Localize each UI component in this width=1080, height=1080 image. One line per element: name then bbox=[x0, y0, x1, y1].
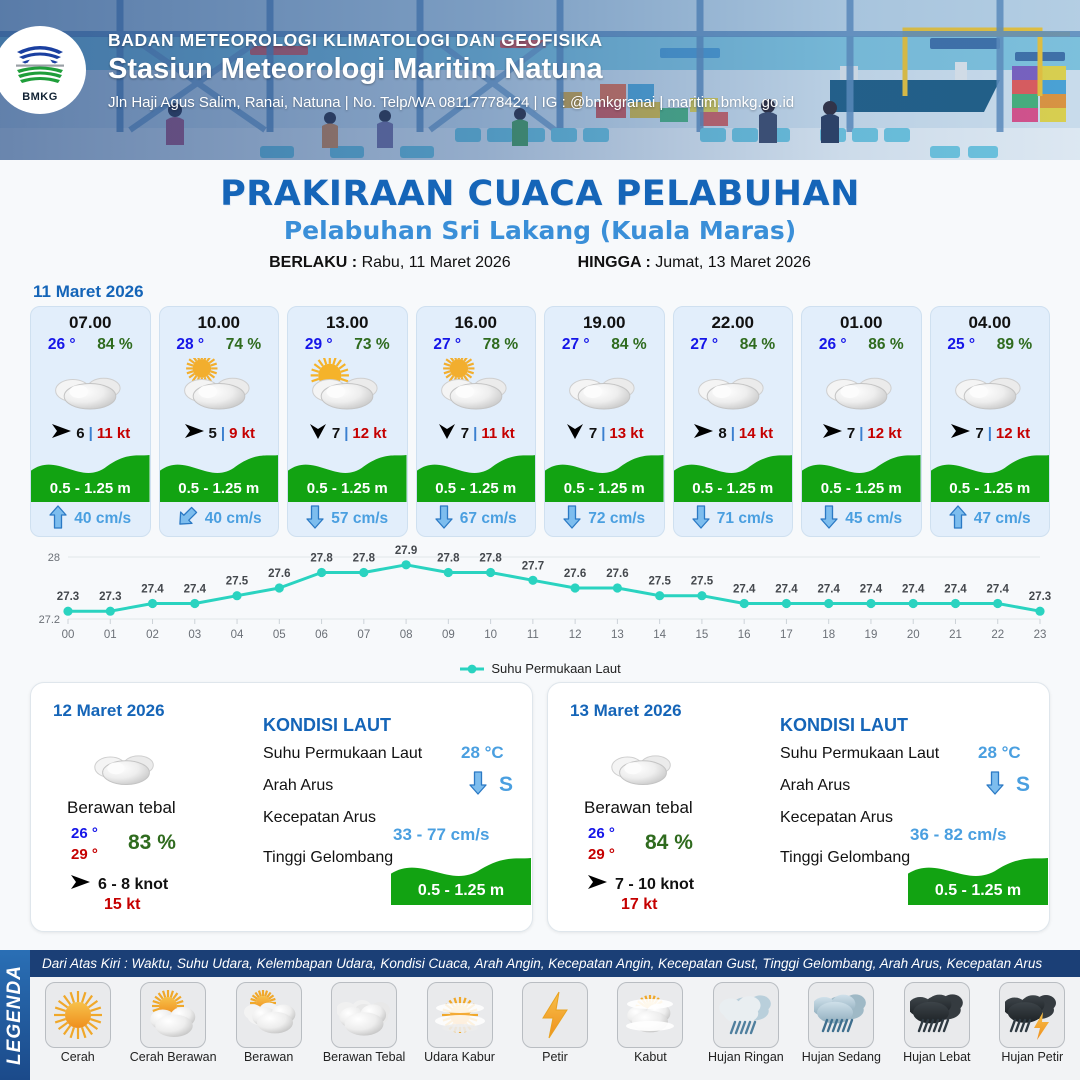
svg-text:27.5: 27.5 bbox=[649, 576, 672, 588]
svg-text:23: 23 bbox=[1034, 629, 1047, 641]
cloudy-icon bbox=[802, 356, 921, 418]
hourly-forecast-row: 07.00 26 ° 84 % 6 | 11 kt 0 bbox=[0, 306, 1080, 537]
svg-text:17: 17 bbox=[780, 629, 793, 641]
svg-text:00: 00 bbox=[62, 629, 75, 641]
card-time: 10.00 bbox=[160, 313, 279, 333]
card-wind-separator: | bbox=[89, 425, 93, 442]
card-gust: 9 kt bbox=[229, 425, 255, 442]
agency-name: BADAN METEOROLOGI KLIMATOLOGI DAN GEOFIS… bbox=[108, 30, 794, 51]
legend-label: Suhu Permukaan Laut bbox=[491, 661, 620, 676]
card-wind-separator: | bbox=[859, 425, 863, 442]
card-wave-height: 0.5 - 1.25 m bbox=[802, 480, 921, 497]
legend-item-label: Cerah bbox=[61, 1051, 95, 1065]
card-wind-speed: 7 bbox=[461, 425, 469, 442]
wind-arrow-south-icon bbox=[308, 421, 328, 446]
card-wind: 7 | 11 kt bbox=[417, 418, 536, 448]
wind-arrow-west-icon bbox=[692, 422, 714, 445]
card-wave: 0.5 - 1.25 m bbox=[31, 448, 150, 502]
legend-marker-icon bbox=[459, 663, 485, 675]
chart-legend: Suhu Permukaan Laut bbox=[0, 661, 1080, 676]
svg-text:02: 02 bbox=[146, 629, 159, 641]
legend-item-label: Hujan Ringan bbox=[708, 1051, 784, 1065]
card-wind: 5 | 9 kt bbox=[160, 418, 279, 448]
daily-card[interactable]: 12 Maret 2026 Berawan tebal 26 ° 29 ° 83… bbox=[30, 682, 533, 932]
svg-text:27.9: 27.9 bbox=[395, 545, 417, 557]
card-wave: 0.5 - 1.25 m bbox=[417, 448, 536, 502]
wave-label: Tinggi Gelombang bbox=[780, 849, 910, 867]
valid-value: Rabu, 11 Maret 2026 bbox=[362, 254, 511, 271]
card-wave-height: 0.5 - 1.25 m bbox=[31, 480, 150, 497]
arrow-down-icon bbox=[435, 505, 453, 534]
daily-wind: 7 - 10 knot bbox=[586, 873, 694, 896]
card-temperature: 25 ° bbox=[947, 336, 975, 354]
card-wave-height: 0.5 - 1.25 m bbox=[160, 480, 279, 497]
cloudy-icon bbox=[31, 356, 150, 418]
partly-cloudy-icon bbox=[417, 356, 536, 418]
card-wind-separator: | bbox=[221, 425, 225, 442]
svg-text:15: 15 bbox=[696, 629, 709, 641]
card-time: 13.00 bbox=[288, 313, 407, 333]
card-temperature: 26 ° bbox=[48, 336, 76, 354]
page-title: PRAKIRAAN CUACA PELABUHAN bbox=[0, 174, 1080, 214]
svg-text:27.6: 27.6 bbox=[606, 568, 628, 580]
card-gust: 13 kt bbox=[609, 425, 643, 442]
hourly-card[interactable]: 22.00 27 ° 84 % 8 | 14 kt 0 bbox=[673, 306, 794, 537]
until-value: Jumat, 13 Maret 2026 bbox=[655, 254, 811, 271]
sunny-cloud-icon bbox=[288, 356, 407, 418]
clouds-icon bbox=[331, 982, 397, 1048]
legend-body: Dari Atas Kiri : Waktu, Suhu Udara, Kele… bbox=[30, 950, 1080, 1080]
wind-arrow-west-icon bbox=[821, 422, 843, 445]
card-wind: 7 | 12 kt bbox=[931, 418, 1050, 448]
thunderstorm-icon bbox=[999, 982, 1065, 1048]
svg-text:22: 22 bbox=[991, 629, 1004, 641]
daily-humidity: 83 % bbox=[128, 831, 176, 855]
svg-text:27.4: 27.4 bbox=[775, 584, 798, 596]
arrow-down-icon bbox=[563, 505, 581, 534]
legend-item-label: Hujan Sedang bbox=[802, 1051, 881, 1065]
daily-gust: 15 kt bbox=[104, 896, 140, 914]
svg-text:28: 28 bbox=[48, 552, 60, 564]
svg-text:27.5: 27.5 bbox=[691, 576, 714, 588]
daily-gust: 17 kt bbox=[621, 896, 657, 914]
fog-icon bbox=[617, 982, 683, 1048]
legend-item: Berawan bbox=[222, 982, 316, 1065]
title-block: PRAKIRAAN CUACA PELABUHAN Pelabuhan Sri … bbox=[0, 160, 1080, 272]
sun-cloud-icon bbox=[140, 982, 206, 1048]
svg-text:27.4: 27.4 bbox=[818, 584, 841, 596]
daily-date: 13 Maret 2026 bbox=[570, 701, 682, 721]
card-current: 47 cm/s bbox=[931, 502, 1050, 536]
legend-item-label: Petir bbox=[542, 1051, 568, 1065]
card-wind-speed: 8 bbox=[718, 425, 726, 442]
wave-label: Tinggi Gelombang bbox=[263, 849, 393, 867]
wind-arrow-west-icon bbox=[949, 422, 971, 445]
arrow-down-icon bbox=[306, 505, 324, 534]
card-temp-hum: 27 ° 78 % bbox=[417, 336, 536, 354]
legend-item: Hujan Ringan bbox=[699, 982, 793, 1065]
until-label: HINGGA : bbox=[578, 254, 651, 271]
card-current: 72 cm/s bbox=[545, 502, 664, 536]
legend-item: Petir bbox=[508, 982, 602, 1065]
current-speed-label: Kecepatan Arus bbox=[780, 809, 893, 827]
card-gust: 12 kt bbox=[867, 425, 901, 442]
daily-card[interactable]: 13 Maret 2026 Berawan tebal 26 ° 29 ° 84… bbox=[547, 682, 1050, 932]
legend-item-label: Cerah Berawan bbox=[130, 1051, 217, 1065]
card-wind: 7 | 13 kt bbox=[545, 418, 664, 448]
legend-item-label: Berawan Tebal bbox=[323, 1051, 405, 1065]
legend-item: Hujan Sedang bbox=[794, 982, 888, 1065]
sst-chart-svg: 2827.20001020304050607080910111213141516… bbox=[0, 545, 1080, 657]
svg-text:09: 09 bbox=[442, 629, 455, 641]
arrow-down-icon bbox=[986, 771, 1004, 800]
card-temperature: 26 ° bbox=[819, 336, 847, 354]
legend-item: Hujan Petir bbox=[985, 982, 1079, 1065]
svg-text:08: 08 bbox=[400, 629, 413, 641]
sst-label: Suhu Permukaan Laut bbox=[780, 745, 939, 763]
card-time: 01.00 bbox=[802, 313, 921, 333]
moderate-rain-icon bbox=[808, 982, 874, 1048]
daily-wave-box: 0.5 - 1.25 m bbox=[391, 853, 531, 905]
card-wind-speed: 7 bbox=[847, 425, 855, 442]
card-temp-hum: 26 ° 84 % bbox=[31, 336, 150, 354]
legend-section: LEGENDA Dari Atas Kiri : Waktu, Suhu Uda… bbox=[0, 950, 1080, 1080]
card-temp-hum: 28 ° 74 % bbox=[160, 336, 279, 354]
wind-arrow-south-icon bbox=[437, 421, 457, 446]
svg-text:19: 19 bbox=[865, 629, 878, 641]
sea-condition-title: KONDISI LAUT bbox=[263, 715, 391, 736]
svg-text:27.8: 27.8 bbox=[353, 553, 376, 565]
card-gust: 11 kt bbox=[97, 425, 130, 442]
card-wave-height: 0.5 - 1.25 m bbox=[674, 480, 793, 497]
legend-item: Cerah Berawan bbox=[126, 982, 220, 1065]
svg-text:05: 05 bbox=[273, 629, 286, 641]
daily-condition: Berawan tebal bbox=[584, 798, 693, 818]
hourly-date-label: 11 Maret 2026 bbox=[33, 282, 1080, 302]
legend-item: Udara Kabur bbox=[413, 982, 507, 1065]
svg-text:16: 16 bbox=[738, 629, 751, 641]
svg-text:27.3: 27.3 bbox=[1029, 591, 1051, 603]
card-wave-height: 0.5 - 1.25 m bbox=[931, 480, 1050, 497]
cloudy-icon bbox=[674, 356, 793, 418]
hourly-card[interactable]: 13.00 29 ° 73 % 7 | 12 kt bbox=[287, 306, 408, 537]
daily-temp-min: 26 ° bbox=[71, 825, 98, 842]
card-wave: 0.5 - 1.25 m bbox=[160, 448, 279, 502]
card-current: 45 cm/s bbox=[802, 502, 921, 536]
wind-arrow-south-icon bbox=[565, 421, 585, 446]
card-wind-speed: 6 bbox=[76, 425, 84, 442]
card-wind: 7 | 12 kt bbox=[288, 418, 407, 448]
svg-text:27.7: 27.7 bbox=[522, 560, 544, 572]
sst-label: Suhu Permukaan Laut bbox=[263, 745, 422, 763]
svg-text:27.4: 27.4 bbox=[944, 584, 967, 596]
svg-text:12: 12 bbox=[569, 629, 582, 641]
card-current-speed: 45 cm/s bbox=[845, 510, 902, 528]
legend-item-label: Hujan Lebat bbox=[903, 1051, 970, 1065]
card-time: 19.00 bbox=[545, 313, 664, 333]
card-temperature: 28 ° bbox=[176, 336, 204, 354]
card-wave-height: 0.5 - 1.25 m bbox=[288, 480, 407, 497]
daily-wind-range: 7 - 10 knot bbox=[615, 876, 694, 894]
card-wave: 0.5 - 1.25 m bbox=[288, 448, 407, 502]
card-wind-separator: | bbox=[473, 425, 477, 442]
card-current: 40 cm/s bbox=[160, 502, 279, 536]
legend-item-label: Kabut bbox=[634, 1051, 667, 1065]
card-wind: 8 | 14 kt bbox=[674, 418, 793, 448]
svg-text:27.3: 27.3 bbox=[57, 591, 79, 603]
daily-temp-max: 29 ° bbox=[588, 846, 615, 863]
card-humidity: 84 % bbox=[97, 336, 132, 354]
cloudy-icon bbox=[87, 737, 165, 796]
legend-item: Cerah bbox=[31, 982, 125, 1065]
svg-text:27.6: 27.6 bbox=[268, 568, 290, 580]
daily-forecast-row: 12 Maret 2026 Berawan tebal 26 ° 29 ° 83… bbox=[0, 676, 1080, 932]
daily-wave-value: 0.5 - 1.25 m bbox=[391, 882, 531, 900]
card-wind: 6 | 11 kt bbox=[31, 418, 150, 448]
page-header: BMKG BADAN METEOROLOGI KLIMATOLOGI DAN G… bbox=[0, 0, 1080, 160]
svg-text:27.4: 27.4 bbox=[987, 584, 1010, 596]
card-gust: 11 kt bbox=[481, 425, 514, 442]
arrow-down-icon bbox=[692, 505, 710, 534]
valid-label: BERLAKU : bbox=[269, 254, 357, 271]
daily-wave-value: 0.5 - 1.25 m bbox=[908, 882, 1048, 900]
card-wind-separator: | bbox=[988, 425, 992, 442]
card-wave: 0.5 - 1.25 m bbox=[674, 448, 793, 502]
daily-date: 12 Maret 2026 bbox=[53, 701, 165, 721]
hourly-card[interactable]: 01.00 26 ° 86 % 7 | 12 kt 0 bbox=[801, 306, 922, 537]
cloudy-icon bbox=[931, 356, 1050, 418]
card-current-speed: 57 cm/s bbox=[331, 510, 388, 528]
svg-text:07: 07 bbox=[357, 629, 370, 641]
cloudy-icon bbox=[545, 356, 664, 418]
card-time: 07.00 bbox=[31, 313, 150, 333]
card-wave: 0.5 - 1.25 m bbox=[931, 448, 1050, 502]
legend-side-title: LEGENDA bbox=[4, 965, 26, 1065]
card-temperature: 27 ° bbox=[562, 336, 590, 354]
wind-arrow-west-icon bbox=[183, 422, 205, 445]
hourly-card[interactable]: 10.00 28 ° 74 % 5 | 9 kt bbox=[159, 306, 280, 537]
legend-item-label: Hujan Petir bbox=[1001, 1051, 1063, 1065]
current-direction-value: S bbox=[499, 773, 513, 797]
sea-condition-title: KONDISI LAUT bbox=[780, 715, 908, 736]
card-temperature: 27 ° bbox=[433, 336, 461, 354]
current-direction-label: Arah Arus bbox=[780, 777, 850, 795]
card-humidity: 86 % bbox=[868, 336, 903, 354]
card-humidity: 73 % bbox=[354, 336, 389, 354]
legend-side-bar: LEGENDA bbox=[0, 950, 30, 1080]
card-wind-separator: | bbox=[731, 425, 735, 442]
svg-text:18: 18 bbox=[822, 629, 835, 641]
legend-note: Dari Atas Kiri : Waktu, Suhu Udara, Kele… bbox=[30, 950, 1080, 977]
legend-item: Berawan Tebal bbox=[317, 982, 411, 1065]
card-temp-hum: 25 ° 89 % bbox=[931, 336, 1050, 354]
hourly-card[interactable]: 19.00 27 ° 84 % 7 | 13 kt 0 bbox=[544, 306, 665, 537]
legend-item: Hujan Lebat bbox=[890, 982, 984, 1065]
svg-text:27.4: 27.4 bbox=[141, 584, 164, 596]
card-current: 71 cm/s bbox=[674, 502, 793, 536]
svg-text:27.4: 27.4 bbox=[184, 584, 207, 596]
cloud-sun-small-icon bbox=[236, 982, 302, 1048]
card-wave: 0.5 - 1.25 m bbox=[802, 448, 921, 502]
card-current-speed: 40 cm/s bbox=[74, 510, 131, 528]
current-speed-value: 36 - 82 cm/s bbox=[910, 825, 1006, 845]
wind-arrow-west-icon bbox=[69, 873, 91, 896]
svg-text:27.4: 27.4 bbox=[860, 584, 883, 596]
cloudy-icon bbox=[604, 737, 682, 796]
card-wind-speed: 7 bbox=[589, 425, 597, 442]
daily-humidity: 84 % bbox=[645, 831, 693, 855]
daily-wave-box: 0.5 - 1.25 m bbox=[908, 853, 1048, 905]
card-current-speed: 67 cm/s bbox=[460, 510, 517, 528]
card-wave-height: 0.5 - 1.25 m bbox=[545, 480, 664, 497]
sst-value: 28 °C bbox=[461, 743, 504, 763]
daily-temp-min: 26 ° bbox=[588, 825, 615, 842]
heavy-rain-icon bbox=[904, 982, 970, 1048]
svg-text:20: 20 bbox=[907, 629, 920, 641]
svg-text:10: 10 bbox=[484, 629, 497, 641]
svg-text:27.5: 27.5 bbox=[226, 576, 249, 588]
card-wind-separator: | bbox=[601, 425, 605, 442]
sst-value: 28 °C bbox=[978, 743, 1021, 763]
wind-arrow-west-icon bbox=[50, 422, 72, 445]
legend-item-label: Berawan bbox=[244, 1051, 293, 1065]
current-direction-label: Arah Arus bbox=[263, 777, 333, 795]
hourly-card[interactable]: 16.00 27 ° 78 % 7 | 11 kt bbox=[416, 306, 537, 537]
current-direction-value: S bbox=[1016, 773, 1030, 797]
svg-text:27.8: 27.8 bbox=[310, 553, 333, 565]
card-current-speed: 71 cm/s bbox=[717, 510, 774, 528]
arrow-up-icon bbox=[49, 505, 67, 534]
card-time: 16.00 bbox=[417, 313, 536, 333]
card-temp-hum: 27 ° 84 % bbox=[545, 336, 664, 354]
card-time: 04.00 bbox=[931, 313, 1050, 333]
arrow-down-icon bbox=[469, 771, 487, 800]
bmkg-emblem-icon bbox=[11, 38, 69, 90]
svg-text:14: 14 bbox=[653, 629, 666, 641]
daily-condition: Berawan tebal bbox=[67, 798, 176, 818]
card-current-speed: 72 cm/s bbox=[588, 510, 645, 528]
validity-line: BERLAKU : Rabu, 11 Maret 2026 HINGGA : J… bbox=[0, 254, 1080, 272]
svg-text:27.6: 27.6 bbox=[564, 568, 586, 580]
hourly-card[interactable]: 04.00 25 ° 89 % 7 | 12 kt 0 bbox=[930, 306, 1051, 537]
card-wind-speed: 7 bbox=[975, 425, 983, 442]
card-temperature: 27 ° bbox=[690, 336, 718, 354]
card-wave-height: 0.5 - 1.25 m bbox=[417, 480, 536, 497]
legend-item: Kabut bbox=[603, 982, 697, 1065]
lightning-icon bbox=[522, 982, 588, 1048]
logo-label: BMKG bbox=[22, 91, 58, 103]
card-temp-hum: 29 ° 73 % bbox=[288, 336, 407, 354]
current-speed-label: Kecepatan Arus bbox=[263, 809, 376, 827]
card-temp-hum: 26 ° 86 % bbox=[802, 336, 921, 354]
card-temperature: 29 ° bbox=[305, 336, 333, 354]
page-subtitle: Pelabuhan Sri Lakang (Kuala Maras) bbox=[0, 216, 1080, 245]
card-current: 57 cm/s bbox=[288, 502, 407, 536]
card-humidity: 84 % bbox=[611, 336, 646, 354]
card-wind-speed: 7 bbox=[332, 425, 340, 442]
svg-text:11: 11 bbox=[527, 629, 539, 641]
sun-icon bbox=[45, 982, 111, 1048]
card-current-speed: 47 cm/s bbox=[974, 510, 1031, 528]
card-wind: 7 | 12 kt bbox=[802, 418, 921, 448]
svg-text:27.8: 27.8 bbox=[437, 553, 460, 565]
card-current: 40 cm/s bbox=[31, 502, 150, 536]
svg-text:27.2: 27.2 bbox=[39, 614, 60, 626]
card-gust: 12 kt bbox=[352, 425, 386, 442]
contact-line: Jln Haji Agus Salim, Ranai, Natuna | No.… bbox=[108, 94, 794, 111]
svg-text:06: 06 bbox=[315, 629, 328, 641]
svg-text:27.3: 27.3 bbox=[99, 591, 121, 603]
card-gust: 14 kt bbox=[739, 425, 773, 442]
svg-text:03: 03 bbox=[188, 629, 201, 641]
arrow-down-left-icon bbox=[176, 506, 198, 533]
legend-items: Cerah Cerah Berawan bbox=[30, 977, 1080, 1080]
card-humidity: 78 % bbox=[483, 336, 518, 354]
arrow-down-icon bbox=[820, 505, 838, 534]
card-current-speed: 40 cm/s bbox=[205, 510, 262, 528]
haze-icon bbox=[427, 982, 493, 1048]
svg-text:13: 13 bbox=[611, 629, 624, 641]
svg-text:01: 01 bbox=[104, 629, 117, 641]
card-current: 67 cm/s bbox=[417, 502, 536, 536]
partly-cloudy-icon bbox=[160, 356, 279, 418]
current-speed-value: 33 - 77 cm/s bbox=[393, 825, 489, 845]
hourly-card[interactable]: 07.00 26 ° 84 % 6 | 11 kt 0 bbox=[30, 306, 151, 537]
svg-text:21: 21 bbox=[949, 629, 962, 641]
card-humidity: 89 % bbox=[997, 336, 1032, 354]
arrow-up-icon bbox=[949, 505, 967, 534]
card-wind-separator: | bbox=[344, 425, 348, 442]
sst-chart: 2827.20001020304050607080910111213141516… bbox=[0, 545, 1080, 660]
wind-arrow-west-icon bbox=[586, 873, 608, 896]
card-wave: 0.5 - 1.25 m bbox=[545, 448, 664, 502]
header-text-block: BADAN METEOROLOGI KLIMATOLOGI DAN GEOFIS… bbox=[108, 30, 794, 111]
card-humidity: 74 % bbox=[226, 336, 261, 354]
svg-text:27.4: 27.4 bbox=[733, 584, 756, 596]
light-rain-icon bbox=[713, 982, 779, 1048]
svg-text:04: 04 bbox=[231, 629, 244, 641]
svg-text:27.4: 27.4 bbox=[902, 584, 925, 596]
card-humidity: 84 % bbox=[740, 336, 775, 354]
daily-temp-max: 29 ° bbox=[71, 846, 98, 863]
card-temp-hum: 27 ° 84 % bbox=[674, 336, 793, 354]
card-wind-speed: 5 bbox=[209, 425, 217, 442]
card-gust: 12 kt bbox=[996, 425, 1030, 442]
daily-wind: 6 - 8 knot bbox=[69, 873, 168, 896]
svg-text:27.8: 27.8 bbox=[479, 553, 502, 565]
card-time: 22.00 bbox=[674, 313, 793, 333]
legend-item-label: Udara Kabur bbox=[424, 1051, 495, 1065]
station-name: Stasiun Meteorologi Maritim Natuna bbox=[108, 53, 794, 86]
daily-wind-range: 6 - 8 knot bbox=[98, 876, 168, 894]
